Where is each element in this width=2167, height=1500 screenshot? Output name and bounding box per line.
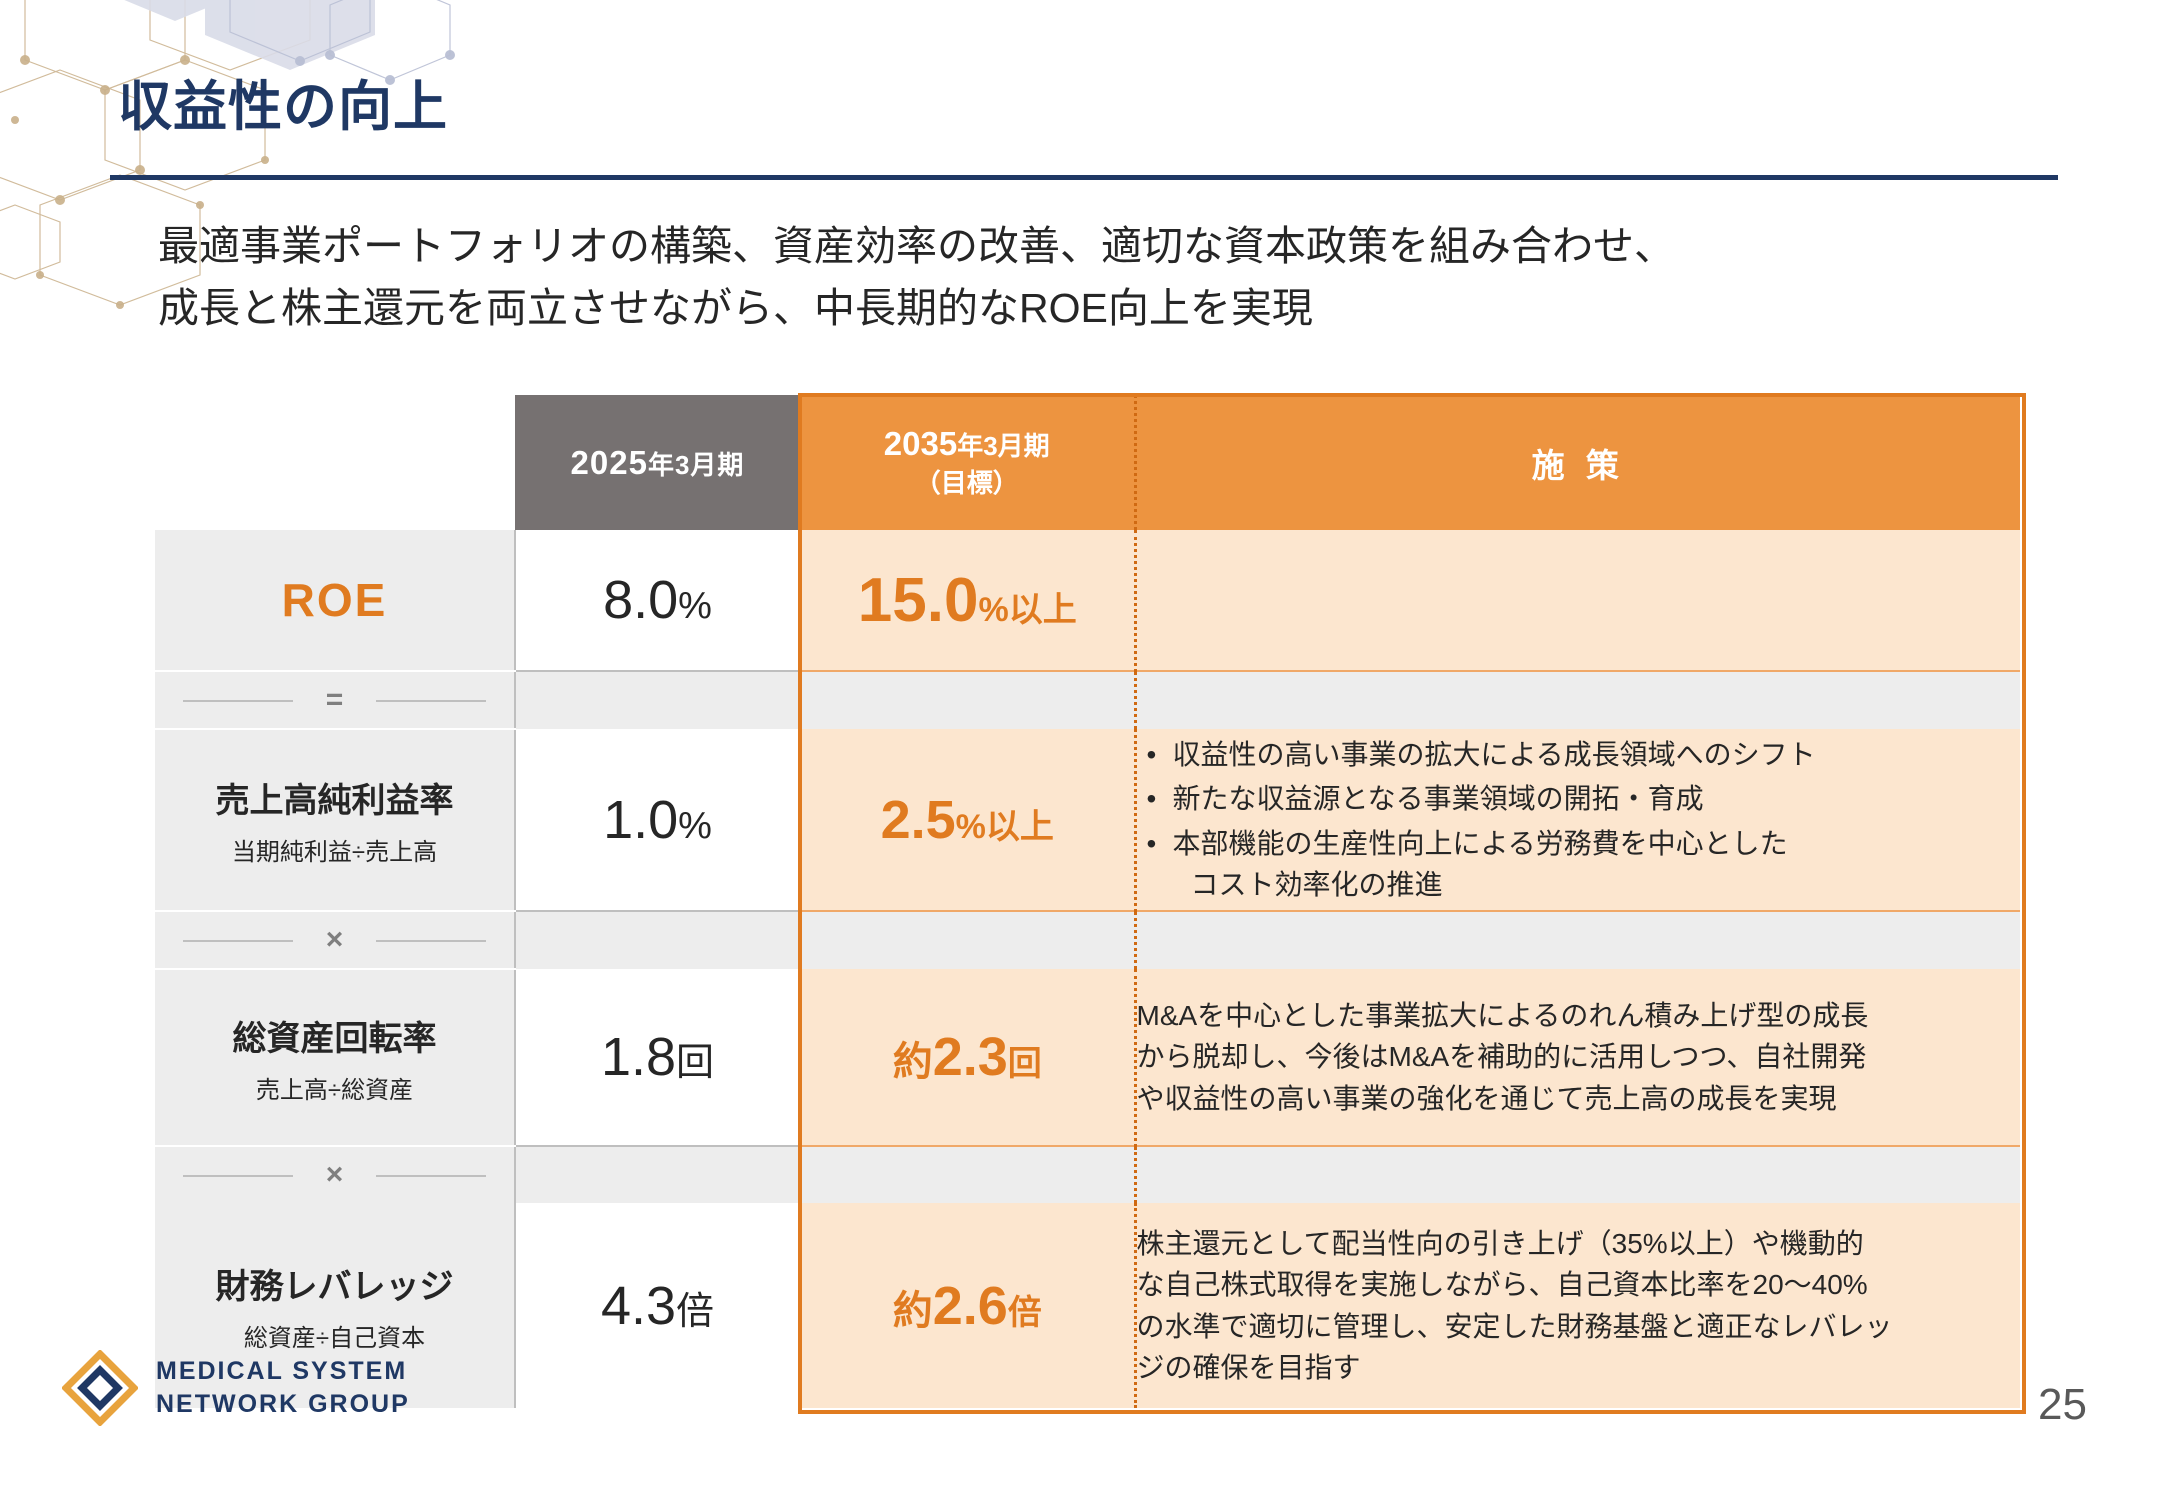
row-value-2025-financial-leverage: 4.3倍 bbox=[515, 1203, 800, 1408]
row-value-2035-financial-leverage-num: 2.6 bbox=[933, 1276, 1008, 1336]
operator-row-spacer-2025 bbox=[515, 911, 800, 969]
measures-bullet-item: 収益性の高い事業の拡大による成長領域へのシフト bbox=[1173, 734, 2021, 775]
operator-symbol-multiply: × bbox=[326, 923, 344, 957]
logo-wordmark: MEDICAL SYSTEM NETWORK GROUP bbox=[156, 1355, 410, 1421]
measures-bullet-item: 新たな収益源となる事業領域の開拓・育成 bbox=[1173, 778, 2021, 819]
row-label-asset-turnover: 総資産回転率 売上高÷総資産 bbox=[155, 969, 515, 1146]
measures-bullet-text: 本部機能の生産性向上による労務費を中心とした bbox=[1173, 828, 1788, 859]
row-value-2035-asset-turnover-num: 2.3 bbox=[933, 1027, 1008, 1087]
operator-row-spacer-measures bbox=[1135, 911, 2020, 969]
row-label-financial-leverage-name: 財務レバレッジ bbox=[155, 1259, 514, 1308]
row-value-2035-financial-leverage: 約2.6倍 bbox=[800, 1203, 1135, 1408]
row-measures-financial-leverage: 株主還元として配当性向の引き上げ（35%以上）や機動的 な自己株式取得を実施しな… bbox=[1135, 1203, 2020, 1408]
table-row-financial-leverage: 財務レバレッジ 総資産÷自己資本 4.3倍 約2.6倍 株主還元として配当性向の… bbox=[155, 1203, 2020, 1408]
row-value-2035-roe-num: 15.0 bbox=[858, 566, 979, 635]
operator-row-spacer-2035 bbox=[800, 911, 1135, 969]
row-label-asset-turnover-name: 総資産回転率 bbox=[155, 1011, 514, 1060]
logo-line-2: NETWORK GROUP bbox=[156, 1388, 410, 1421]
measures-line: の水準で適切に管理し、安定した財務基盤と適正なレバレッ bbox=[1137, 1306, 2021, 1347]
operator-rule-left bbox=[183, 940, 293, 942]
row-value-2035-net-margin-unit: %以上 bbox=[956, 808, 1054, 846]
row-label-roe: ROE bbox=[155, 530, 515, 671]
operator-row-spacer-2035 bbox=[800, 1146, 1135, 1203]
row-label-net-margin-formula: 当期純利益÷売上高 bbox=[155, 832, 514, 867]
header-fy2035-main: 2035年3月期 bbox=[800, 425, 1134, 463]
measures-bullet-item: 本部機能の生産性向上による労務費を中心とした コスト効率化の推進 bbox=[1173, 823, 2021, 906]
roe-breakdown-table: 2025年3月期 2035年3月期 （目標） 施 策 ROE 8.0% 15.0… bbox=[155, 395, 2020, 1408]
header-fy2025: 2025年3月期 bbox=[515, 395, 800, 530]
operator-rule-right bbox=[376, 940, 486, 942]
header-fy2035-suffix: 年3月期 bbox=[957, 431, 1049, 461]
row-label-net-margin: 売上高純利益率 当期純利益÷売上高 bbox=[155, 729, 515, 911]
logo-mark-icon bbox=[62, 1350, 138, 1426]
operator-rule-left bbox=[183, 700, 293, 702]
header-measures: 施 策 bbox=[1135, 395, 2020, 530]
row-value-2025-net-margin-unit: % bbox=[678, 805, 712, 847]
row-value-2025-roe: 8.0% bbox=[515, 530, 800, 671]
operator-row-spacer-2025 bbox=[515, 1146, 800, 1203]
row-label-financial-leverage-formula: 総資産÷自己資本 bbox=[155, 1318, 514, 1353]
table-row-asset-turnover: 総資産回転率 売上高÷総資産 1.8回 約2.3回 M&Aを中心とした事業拡大に… bbox=[155, 969, 2020, 1146]
row-value-2025-net-margin: 1.0% bbox=[515, 729, 800, 911]
company-logo: MEDICAL SYSTEM NETWORK GROUP bbox=[62, 1350, 410, 1426]
row-value-2025-asset-turnover: 1.8回 bbox=[515, 969, 800, 1146]
title-divider bbox=[110, 175, 2058, 180]
row-label-roe-name: ROE bbox=[155, 573, 514, 627]
operator-rule-left bbox=[183, 1175, 293, 1177]
lead-line-2: 成長と株主還元を両立させながら、中長期的なROE向上を実現 bbox=[158, 277, 2038, 339]
page-title: 収益性の向上 bbox=[118, 62, 448, 141]
row-value-2025-roe-num: 8.0 bbox=[603, 570, 678, 630]
operator-row-equals: = bbox=[155, 671, 2020, 729]
table-row-roe: ROE 8.0% 15.0%以上 bbox=[155, 530, 2020, 671]
header-fy2035: 2035年3月期 （目標） bbox=[800, 395, 1135, 530]
row-value-2035-asset-turnover-unit: 回 bbox=[1008, 1045, 1042, 1083]
row-measures-net-margin: 収益性の高い事業の拡大による成長領域へのシフト 新たな収益源となる事業領域の開拓… bbox=[1135, 729, 2020, 911]
lead-paragraph: 最適事業ポートフォリオの構築、資産効率の改善、適切な資本政策を組み合わせ、 成長… bbox=[158, 215, 2038, 340]
operator-row-spacer-2025 bbox=[515, 671, 800, 729]
operator-row-spacer-2035 bbox=[800, 671, 1135, 729]
row-value-2035-net-margin: 2.5%以上 bbox=[800, 729, 1135, 911]
row-value-2035-roe-unit: %以上 bbox=[978, 591, 1076, 629]
row-value-2035-financial-leverage-prefix: 約 bbox=[893, 1289, 933, 1333]
lead-line-1: 最適事業ポートフォリオの構築、資産効率の改善、適切な資本政策を組み合わせ、 bbox=[158, 215, 2038, 277]
row-value-2025-asset-turnover-unit: 回 bbox=[676, 1042, 714, 1084]
measures-line: M&Aを中心とした事業拡大によるのれん積み上げ型の成長 bbox=[1137, 995, 2021, 1036]
measures-bullet-list: 収益性の高い事業の拡大による成長領域へのシフト 新たな収益源となる事業領域の開拓… bbox=[1137, 734, 2021, 906]
row-value-2035-asset-turnover: 約2.3回 bbox=[800, 969, 1135, 1146]
header-blank-cell bbox=[155, 395, 515, 530]
operator-multiply-1: × bbox=[155, 911, 515, 969]
logo-line-1: MEDICAL SYSTEM bbox=[156, 1355, 410, 1388]
row-value-2025-roe-unit: % bbox=[678, 585, 712, 627]
row-value-2035-asset-turnover-prefix: 約 bbox=[893, 1040, 933, 1084]
row-value-2035-roe: 15.0%以上 bbox=[800, 530, 1135, 671]
row-value-2025-financial-leverage-unit: 倍 bbox=[676, 1291, 714, 1333]
measures-line: 株主還元として配当性向の引き上げ（35%以上）や機動的 bbox=[1137, 1223, 2021, 1264]
row-measures-roe bbox=[1135, 530, 2020, 671]
operator-symbol-multiply: × bbox=[326, 1158, 344, 1192]
row-value-2025-net-margin-num: 1.0 bbox=[603, 790, 678, 850]
measures-line: や収益性の高い事業の強化を通じて売上高の成長を実現 bbox=[1137, 1078, 2021, 1119]
operator-equals: = bbox=[155, 671, 515, 729]
table-row-net-margin: 売上高純利益率 当期純利益÷売上高 1.0% 2.5%以上 収益性の高い事業の拡… bbox=[155, 729, 2020, 911]
operator-rule-right bbox=[376, 1175, 486, 1177]
measures-line: な自己株式取得を実施しながら、自己資本比率を20〜40% bbox=[1137, 1264, 2021, 1305]
row-value-2035-net-margin-num: 2.5 bbox=[881, 790, 956, 850]
row-value-2035-financial-leverage-unit: 倍 bbox=[1008, 1294, 1042, 1332]
operator-row-spacer-measures bbox=[1135, 1146, 2020, 1203]
row-label-net-margin-name: 売上高純利益率 bbox=[155, 773, 514, 822]
measures-line: から脱却し、今後はM&Aを補助的に活用しつつ、自社開発 bbox=[1137, 1036, 2021, 1077]
operator-row-multiply-1: × bbox=[155, 911, 2020, 969]
row-value-2025-financial-leverage-num: 4.3 bbox=[601, 1276, 676, 1336]
operator-rule-right bbox=[376, 700, 486, 702]
header-fy2035-num: 2035 bbox=[884, 425, 957, 462]
measures-line: ジの確保を目指す bbox=[1137, 1347, 2021, 1388]
header-fy2035-sub: （目標） bbox=[800, 463, 1134, 500]
operator-multiply-2: × bbox=[155, 1146, 515, 1203]
operator-symbol-equals: = bbox=[326, 683, 344, 717]
row-measures-asset-turnover: M&Aを中心とした事業拡大によるのれん積み上げ型の成長 から脱却し、今後はM&A… bbox=[1135, 969, 2020, 1146]
measures-bullet-text-cont: コスト効率化の推進 bbox=[1173, 864, 2021, 905]
table-header-row: 2025年3月期 2035年3月期 （目標） 施 策 bbox=[155, 395, 2020, 530]
header-fy2025-num: 2025 bbox=[571, 444, 648, 481]
header-fy2025-suffix: 年3月期 bbox=[648, 450, 744, 480]
page-number: 25 bbox=[2038, 1380, 2087, 1430]
operator-row-multiply-2: × bbox=[155, 1146, 2020, 1203]
operator-row-spacer-measures bbox=[1135, 671, 2020, 729]
row-label-asset-turnover-formula: 売上高÷総資産 bbox=[155, 1070, 514, 1105]
row-value-2025-asset-turnover-num: 1.8 bbox=[601, 1027, 676, 1087]
